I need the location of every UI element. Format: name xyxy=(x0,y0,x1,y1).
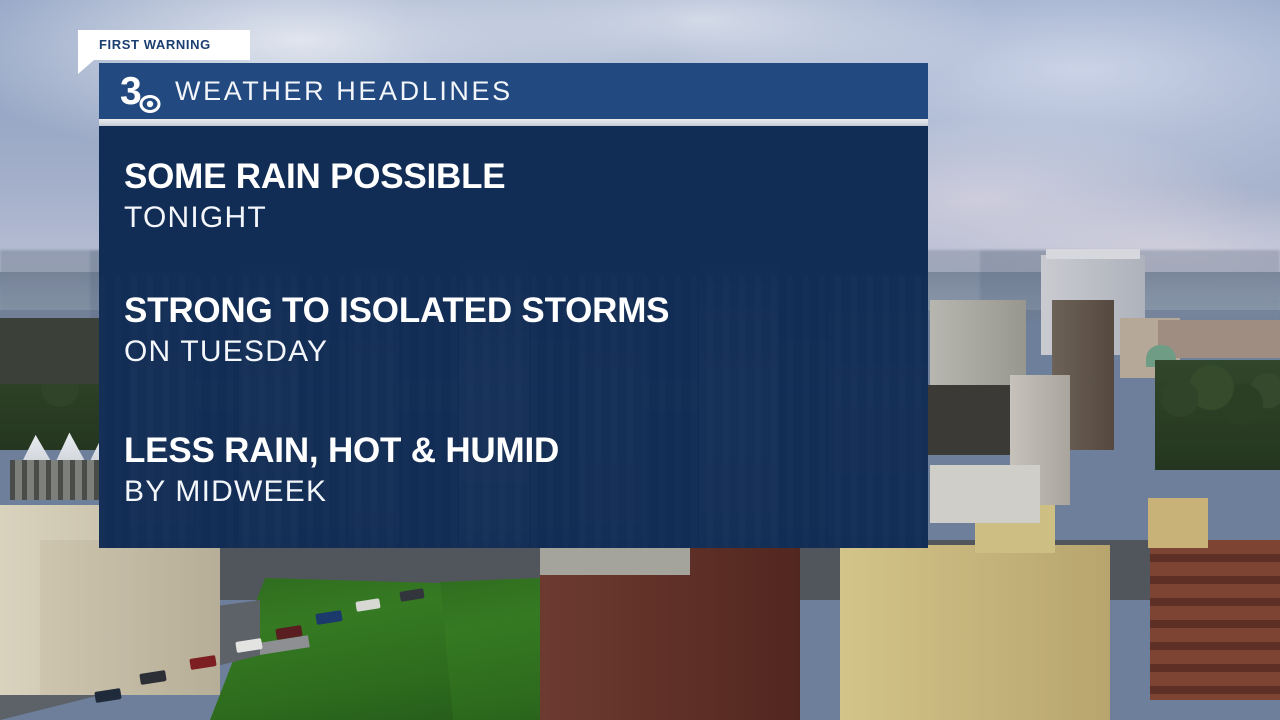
headline-main-text: STRONG TO ISOLATED STORMS xyxy=(124,293,669,328)
headline-main-text: LESS RAIN, HOT & HUMID xyxy=(124,433,559,468)
headline-main-text: SOME RAIN POSSIBLE xyxy=(124,159,505,194)
headline-item: LESS RAIN, HOT & HUMID BY MIDWEEK xyxy=(124,433,559,507)
first-warning-tab: FIRST WARNING xyxy=(78,30,250,60)
panel-header: 3 WEATHER HEADLINES xyxy=(99,63,928,119)
weather-headlines-overlay: FIRST WARNING 3 WEATHER HEADLINES SOME R… xyxy=(0,0,1280,720)
svg-text:3: 3 xyxy=(120,71,142,113)
panel-body: SOME RAIN POSSIBLE TONIGHT STRONG TO ISO… xyxy=(99,126,928,548)
first-warning-label: FIRST WARNING xyxy=(99,37,211,52)
headline-item: SOME RAIN POSSIBLE TONIGHT xyxy=(124,159,505,233)
headline-sub-text: BY MIDWEEK xyxy=(124,477,559,507)
headline-sub-text: TONIGHT xyxy=(124,203,505,233)
panel-divider xyxy=(99,119,928,126)
cbs-3-eye-logo: 3 xyxy=(120,71,172,113)
first-warning-tab-tail xyxy=(78,60,94,74)
headline-panel: 3 WEATHER HEADLINES SOME RAIN POSSIBLE T… xyxy=(99,63,928,548)
headline-sub-text: ON TUESDAY xyxy=(124,337,669,367)
panel-title: WEATHER HEADLINES xyxy=(175,76,513,107)
headline-item: STRONG TO ISOLATED STORMS ON TUESDAY xyxy=(124,293,669,367)
